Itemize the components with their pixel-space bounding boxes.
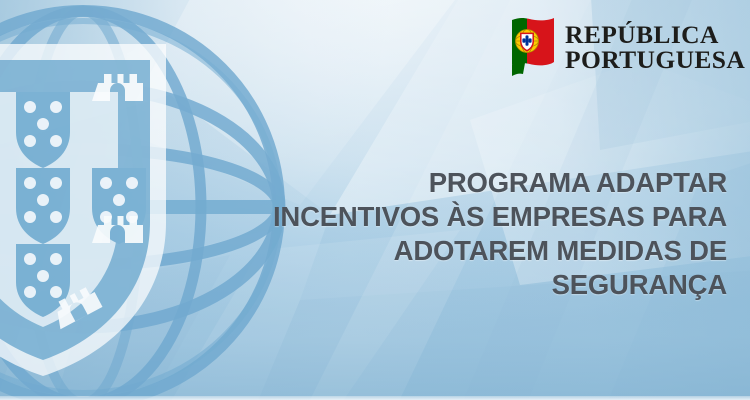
logo-line-portuguesa: PORTUGUESA <box>565 47 745 72</box>
headline-line-4: SEGURANÇA <box>190 268 727 302</box>
logo-line-republica: REPÚBLICA <box>565 22 745 47</box>
banner: REPÚBLICA PORTUGUESA PROGRAMA ADAPTAR IN… <box>0 0 750 400</box>
logo-wordmark: REPÚBLICA PORTUGUESA <box>565 22 745 72</box>
headline-line-1: PROGRAMA ADAPTAR <box>190 166 727 200</box>
bottom-highlight-strip <box>0 396 750 400</box>
headline-line-3: ADOTAREM MEDIDAS DE <box>190 234 727 268</box>
headline-line-2: INCENTIVOS ÀS EMPRESAS PARA <box>190 200 727 234</box>
headline: PROGRAMA ADAPTAR INCENTIVOS ÀS EMPRESAS … <box>190 166 727 302</box>
republica-portuguesa-logo: REPÚBLICA PORTUGUESA <box>508 16 745 78</box>
portuguese-flag-emblem-icon <box>508 16 556 78</box>
